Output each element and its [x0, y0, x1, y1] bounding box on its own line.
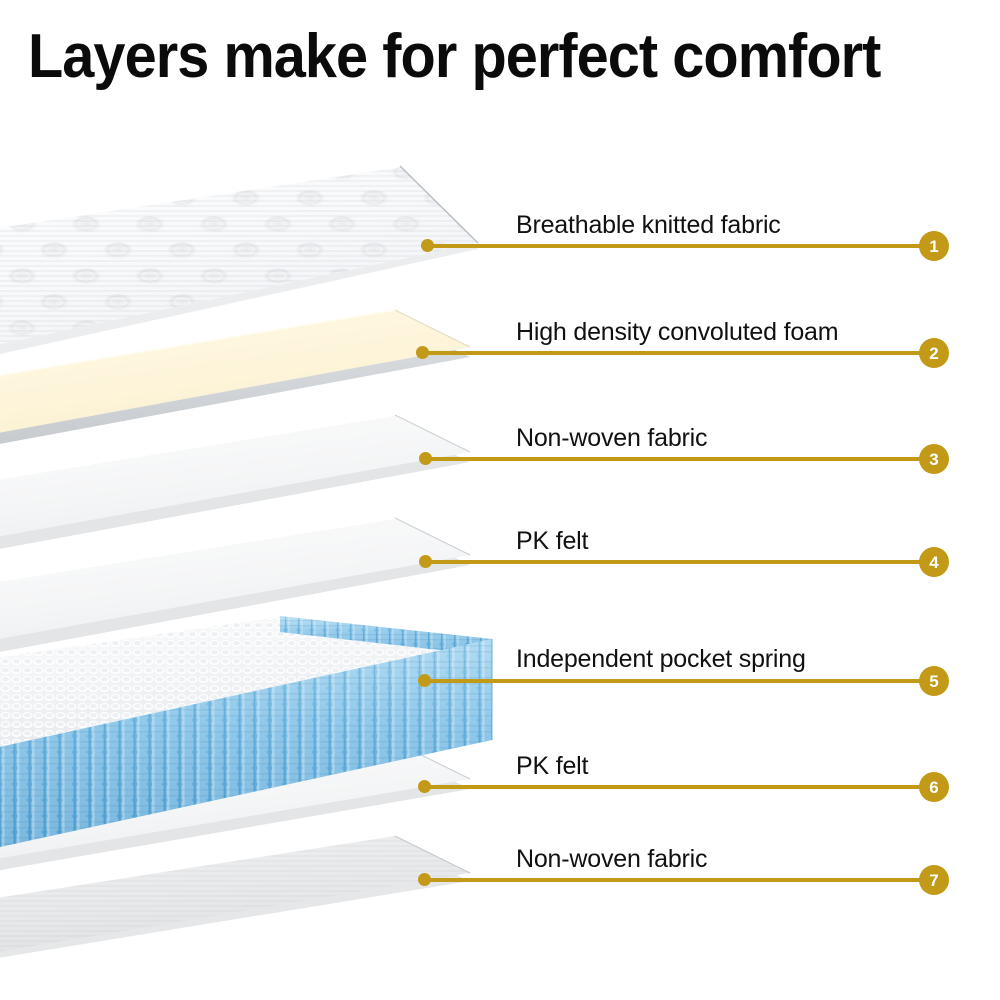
- leader-line-7: [424, 878, 925, 882]
- leader-line-5: [424, 679, 925, 683]
- leader-line-6: [424, 785, 925, 789]
- callout-label-4: PK felt: [516, 527, 588, 556]
- callout-label-1: Breathable knitted fabric: [516, 211, 781, 240]
- callout-label-7: Non-woven fabric: [516, 845, 707, 874]
- leader-line-4: [425, 560, 925, 564]
- callout-group: Breathable knitted fabric 1 High density…: [0, 0, 1000, 1000]
- layer-badge-3[interactable]: 3: [919, 444, 949, 474]
- leader-dot-5: [418, 674, 431, 687]
- leader-dot-7: [418, 873, 431, 886]
- layer-badge-1[interactable]: 1: [919, 231, 949, 261]
- layer-badge-5[interactable]: 5: [919, 666, 949, 696]
- layer-badge-6[interactable]: 6: [919, 772, 949, 802]
- leader-dot-3: [419, 452, 432, 465]
- callout-label-3: Non-woven fabric: [516, 424, 707, 453]
- layer-badge-7[interactable]: 7: [919, 865, 949, 895]
- layer-badge-2[interactable]: 2: [919, 338, 949, 368]
- leader-line-1: [427, 244, 925, 248]
- callout-label-5: Independent pocket spring: [516, 645, 806, 674]
- layer-badge-4[interactable]: 4: [919, 547, 949, 577]
- leader-dot-2: [416, 346, 429, 359]
- leader-dot-6: [418, 780, 431, 793]
- callout-label-6: PK felt: [516, 752, 588, 781]
- leader-dot-1: [421, 239, 434, 252]
- infographic-canvas: Layers make for perfect comfort: [0, 0, 1000, 1000]
- leader-line-3: [425, 457, 925, 461]
- leader-line-2: [422, 351, 925, 355]
- leader-dot-4: [419, 555, 432, 568]
- callout-label-2: High density convoluted foam: [516, 318, 838, 347]
